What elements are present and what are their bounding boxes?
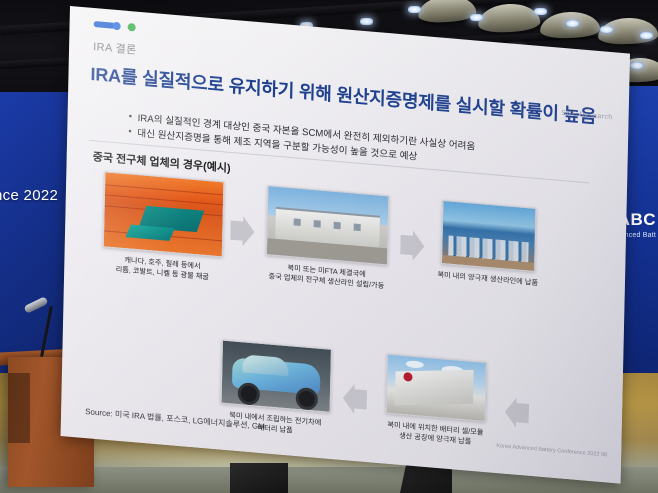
flow-step-caption: 캐나다, 호주, 칠레 등에서 리튬, 코발트, 니켈 등 광물 채굴	[100, 253, 224, 284]
flow-step-caption: 북미 또는 미FTA 체결국에 중국 업체의 전구체 생산라인 설립/가동	[258, 260, 394, 292]
ceiling-light	[630, 62, 643, 69]
ceiling-light	[408, 6, 421, 13]
projection-screen: IRA 결론 IRA를 실질적으로 유지하기 위해 원산지증명제를 실시할 확률…	[60, 6, 630, 493]
ceiling-light	[534, 8, 547, 15]
flow-step-caption: 북미 내에 위치한 배터리 셀/모듈 생산 공장에 양극재 납품	[371, 418, 499, 450]
flow-step-caption: 북미 내의 양극재 생산라인에 납품	[429, 269, 547, 289]
chevron-left-icon	[343, 383, 368, 415]
acoustic-baffle	[477, 2, 540, 33]
presentation-slide: IRA 결론 IRA를 실질적으로 유지하기 위해 원산지증명제를 실시할 확률…	[61, 6, 630, 484]
flow-arrow	[394, 196, 430, 295]
flow-row-top: 캐나다, 호주, 칠레 등에서 리튬, 코발트, 니켈 등 광물 채굴 북미 또…	[100, 171, 548, 312]
chevron-left-icon	[505, 397, 530, 429]
flow-step: 캐나다, 호주, 칠레 등에서 리튬, 코발트, 니켈 등 광물 채굴	[100, 171, 226, 284]
flow-step: 북미 내에 위치한 배터리 셀/모듈 생산 공장에 양극재 납품	[371, 352, 501, 450]
flow-arrow	[337, 349, 373, 448]
company-logo-icon	[94, 18, 148, 35]
lithium-brine-ponds-photo	[103, 171, 225, 257]
precursor-factory-photo	[266, 185, 390, 265]
battery-plant-photo	[386, 354, 487, 423]
electric-vehicle-photo	[221, 340, 332, 413]
chevron-right-icon	[400, 229, 425, 261]
flow-arrow	[224, 182, 260, 281]
industrial-complex-aerial-photo	[441, 200, 536, 272]
flow-step: 북미 또는 미FTA 체결국에 중국 업체의 전구체 생산라인 설립/가동	[258, 184, 396, 292]
slide-kicker: IRA 결론	[93, 38, 137, 58]
flow-row-bottom: 북미 내에서 조립하는 전기차에 배터리 납품 북미 내에 위치한 배터리 셀/…	[213, 339, 535, 462]
ceiling-light	[470, 14, 483, 21]
ceiling-light	[600, 26, 613, 33]
ceiling-light	[360, 18, 373, 25]
chevron-right-icon	[230, 215, 255, 247]
flow-step: 북미 내의 양극재 생산라인에 납품	[429, 199, 549, 289]
podium-shadow	[8, 373, 30, 443]
ceiling-light	[640, 32, 653, 39]
conference-room-photo: nce 2022 KABC Korea Advanced Batt IRA 결론…	[0, 0, 658, 493]
acoustic-baffle	[417, 0, 477, 24]
ceiling-light	[566, 20, 579, 27]
